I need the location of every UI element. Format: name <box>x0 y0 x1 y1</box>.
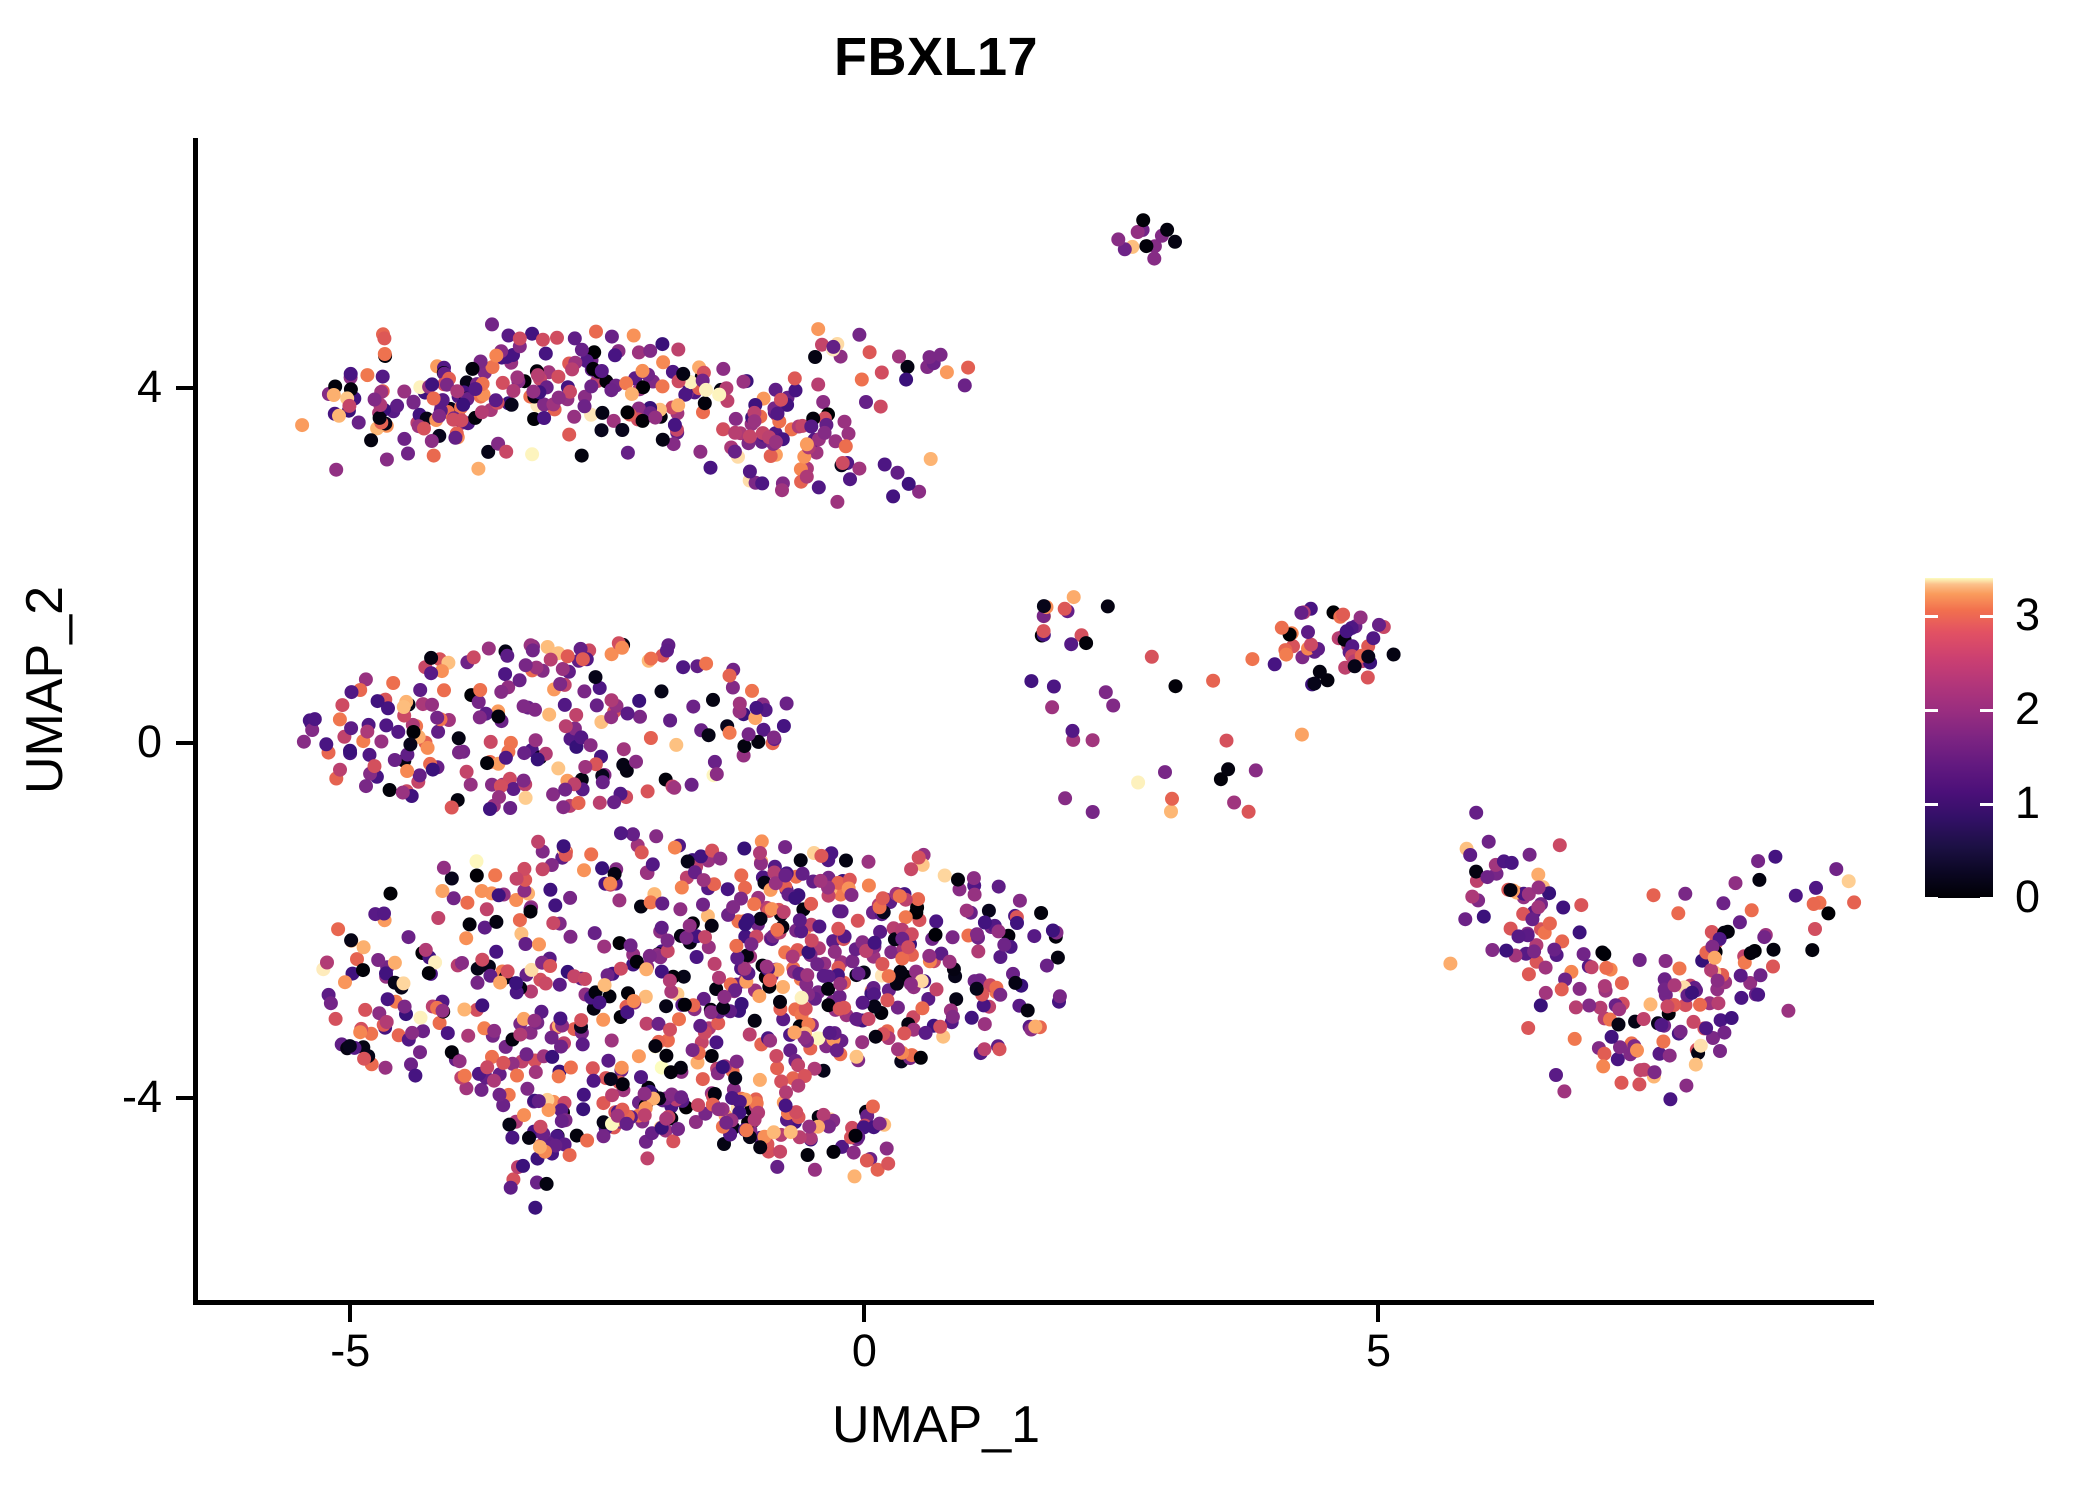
scatter-point <box>1557 1084 1571 1098</box>
scatter-point <box>1612 1018 1626 1032</box>
scatter-point <box>524 905 538 919</box>
scatter-point <box>1499 944 1513 958</box>
scatter-point <box>805 934 819 948</box>
scatter-point <box>520 1047 534 1061</box>
color-legend <box>1925 578 1993 898</box>
scatter-point <box>1569 1000 1583 1014</box>
scatter-point <box>390 399 404 413</box>
scatter-point <box>1808 922 1822 936</box>
scatter-point <box>546 787 560 801</box>
scatter-point <box>1463 848 1477 862</box>
scatter-point <box>576 1102 590 1116</box>
scatter-point <box>1615 976 1629 990</box>
scatter-point <box>729 412 743 426</box>
scatter-point <box>1734 969 1748 983</box>
scatter-point <box>615 423 629 437</box>
scatter-point <box>615 641 629 655</box>
scatter-point <box>978 1017 992 1031</box>
scatter-point <box>407 395 421 409</box>
scatter-point <box>1099 685 1113 699</box>
scatter-point <box>510 872 524 886</box>
scatter-point <box>567 410 581 424</box>
scatter-point <box>777 719 791 733</box>
scatter-point <box>344 933 358 947</box>
scatter-point <box>397 976 411 990</box>
scatter-point <box>743 465 757 479</box>
scatter-point <box>668 841 682 855</box>
scatter-point <box>876 891 890 905</box>
scatter-point <box>529 1065 543 1079</box>
scatter-point <box>616 1077 630 1091</box>
scatter-point <box>663 1023 677 1037</box>
scatter-point <box>584 847 598 861</box>
scatter-point <box>743 1028 757 1042</box>
scatter-point <box>516 1159 530 1173</box>
scatter-point <box>1612 1002 1626 1016</box>
scatter-point <box>396 786 410 800</box>
scatter-point <box>1066 724 1080 738</box>
scatter-point <box>460 896 474 910</box>
scatter-point <box>1534 998 1548 1012</box>
scatter-point <box>401 447 415 461</box>
scatter-point <box>648 411 662 425</box>
scatter-point <box>422 966 436 980</box>
scatter-point <box>539 977 553 991</box>
scatter-point <box>368 393 382 407</box>
scatter-point <box>659 999 673 1013</box>
scatter-point <box>587 1074 601 1088</box>
scatter-point <box>838 415 852 429</box>
scatter-point <box>716 422 730 436</box>
scatter-point <box>532 1094 546 1108</box>
scatter-point <box>519 937 533 951</box>
scatter-point <box>826 340 840 354</box>
scatter-point <box>607 795 621 809</box>
scatter-point <box>430 711 444 725</box>
scatter-point <box>357 940 371 954</box>
scatter-point <box>1512 929 1526 943</box>
scatter-point <box>1465 890 1479 904</box>
scatter-point <box>424 666 438 680</box>
scatter-point <box>640 1151 654 1165</box>
scatter-point <box>1605 1030 1619 1044</box>
scatter-point <box>745 684 759 698</box>
scatter-point <box>641 784 655 798</box>
scatter-point <box>540 1177 554 1191</box>
scatter-point <box>1754 968 1768 982</box>
scatter-point <box>1829 862 1843 876</box>
scatter-point <box>475 405 489 419</box>
scatter-point <box>319 737 333 751</box>
scatter-point <box>940 365 954 379</box>
scatter-point <box>699 383 713 397</box>
scatter-point <box>542 708 556 722</box>
scatter-point <box>1131 776 1145 790</box>
scatter-point <box>554 1040 568 1054</box>
scatter-point <box>904 977 918 991</box>
scatter-point <box>1656 1035 1670 1049</box>
scatter-point <box>1633 953 1647 967</box>
scatter-point <box>475 1083 489 1097</box>
scatter-point <box>453 1054 467 1068</box>
scatter-point <box>562 428 576 442</box>
scatter-point <box>804 897 818 911</box>
scatter-point <box>493 1088 507 1102</box>
scatter-point <box>833 1002 847 1016</box>
scatter-point <box>693 1019 707 1033</box>
scatter-point <box>441 1026 455 1040</box>
scatter-point <box>1340 624 1354 638</box>
scatter-point <box>1711 996 1725 1010</box>
scatter-point <box>1615 1076 1629 1090</box>
scatter-point <box>1111 232 1125 246</box>
scatter-point <box>1336 608 1350 622</box>
scatter-point <box>320 956 334 970</box>
scatter-point <box>484 735 498 749</box>
scatter-point <box>867 1000 881 1014</box>
scatter-point <box>728 426 742 440</box>
scatter-point <box>744 937 758 951</box>
scatter-point <box>737 375 751 389</box>
scatter-point <box>1789 889 1803 903</box>
scatter-point <box>1164 805 1178 819</box>
color-legend-tick-mark <box>1980 709 1993 712</box>
scatter-point <box>1021 1004 1035 1018</box>
scatter-point <box>1573 925 1587 939</box>
scatter-point <box>676 367 690 381</box>
scatter-point <box>563 1148 577 1162</box>
scatter-point <box>919 1026 933 1040</box>
scatter-point <box>1729 876 1743 890</box>
color-legend-tick-mark <box>1925 803 1938 806</box>
scatter-point <box>588 926 602 940</box>
scatter-point <box>559 719 573 733</box>
scatter-point <box>519 658 533 672</box>
scatter-point <box>324 996 338 1010</box>
scatter-point <box>605 330 619 344</box>
scatter-point <box>778 840 792 854</box>
scatter-point <box>638 1108 652 1122</box>
scatter-point <box>1028 1020 1042 1034</box>
scatter-point <box>482 642 496 656</box>
scatter-point <box>397 700 411 714</box>
scatter-point <box>1668 978 1682 992</box>
scatter-point <box>880 1142 894 1156</box>
scatter-point <box>1553 838 1567 852</box>
scatter-point <box>575 449 589 463</box>
scatter-point <box>424 651 438 665</box>
scatter-point <box>356 963 370 977</box>
scatter-points-layer <box>196 140 1872 1302</box>
scatter-point <box>1079 636 1093 650</box>
scatter-point <box>380 1015 394 1029</box>
scatter-point <box>629 755 643 769</box>
scatter-point <box>413 1045 427 1059</box>
scatter-point <box>633 710 647 724</box>
scatter-point <box>353 1025 367 1039</box>
scatter-point <box>992 880 1006 894</box>
scatter-point <box>716 362 730 376</box>
scatter-point <box>627 329 641 343</box>
scatter-point <box>1547 943 1561 957</box>
scatter-point <box>1767 943 1781 957</box>
scatter-point <box>786 950 800 964</box>
scatter-point <box>604 710 618 724</box>
scatter-point <box>753 1140 767 1154</box>
scatter-point <box>456 398 470 412</box>
scatter-point <box>667 781 681 795</box>
scatter-point <box>522 1131 536 1145</box>
scatter-point <box>1611 1052 1625 1066</box>
scatter-point <box>846 954 860 968</box>
scatter-point <box>1027 929 1041 943</box>
scatter-point <box>577 684 591 698</box>
scatter-point <box>993 950 1007 964</box>
scatter-point <box>1663 1092 1677 1106</box>
scatter-point <box>344 367 358 381</box>
scatter-point <box>627 994 641 1008</box>
scatter-point <box>536 862 550 876</box>
scatter-point <box>1573 982 1587 996</box>
scatter-point <box>946 930 960 944</box>
scatter-point <box>1168 235 1182 249</box>
scatter-point <box>391 725 405 739</box>
scatter-point <box>467 650 481 664</box>
page-title: FBXL17 <box>0 26 1872 88</box>
scatter-point <box>605 1034 619 1048</box>
color-legend-tick-mark <box>1925 615 1938 618</box>
scatter-point <box>904 862 918 876</box>
scatter-point <box>564 1061 578 1075</box>
scatter-point <box>419 943 433 957</box>
scatter-point <box>1734 991 1748 1005</box>
scatter-point <box>364 433 378 447</box>
scatter-point <box>1539 961 1553 975</box>
scatter-point <box>487 1074 501 1088</box>
scatter-point <box>804 420 818 434</box>
scatter-point <box>531 752 545 766</box>
scatter-point <box>1361 650 1375 664</box>
scatter-point <box>297 735 311 749</box>
scatter-point <box>1630 1043 1644 1057</box>
scatter-point <box>640 1017 654 1031</box>
scatter-point <box>552 391 566 405</box>
scatter-point <box>978 916 992 930</box>
scatter-point <box>643 949 657 963</box>
scatter-point <box>455 956 469 970</box>
scatter-point <box>776 980 790 994</box>
scatter-point <box>532 937 546 951</box>
scatter-point <box>510 1069 524 1083</box>
scatter-point <box>892 350 906 364</box>
scatter-point <box>578 399 592 413</box>
scatter-point <box>536 333 550 347</box>
scatter-point <box>597 940 611 954</box>
scatter-point <box>352 416 366 430</box>
scatter-point <box>852 328 866 342</box>
scatter-point <box>1064 637 1078 651</box>
scatter-point <box>679 931 693 945</box>
scatter-point <box>1757 930 1771 944</box>
scatter-point <box>1485 943 1499 957</box>
scatter-point <box>685 778 699 792</box>
scatter-point <box>660 644 674 658</box>
scatter-point <box>891 1042 905 1056</box>
scatter-point <box>487 1024 501 1038</box>
scatter-point <box>902 477 916 491</box>
scatter-point <box>666 1134 680 1148</box>
scatter-point <box>475 998 489 1012</box>
scatter-point <box>1304 638 1318 652</box>
scatter-point <box>427 392 441 406</box>
scatter-point <box>603 877 617 891</box>
scatter-point <box>1008 976 1022 990</box>
scatter-point <box>425 434 439 448</box>
scatter-point <box>1136 213 1150 227</box>
scatter-point <box>748 1014 762 1028</box>
scatter-point <box>850 1050 864 1064</box>
scatter-point <box>397 432 411 446</box>
scatter-point <box>852 462 866 476</box>
scatter-point <box>543 959 557 973</box>
scatter-point <box>1768 850 1782 864</box>
scatter-point <box>344 721 358 735</box>
scatter-point <box>432 409 446 423</box>
scatter-point <box>577 1088 591 1102</box>
scatter-point <box>504 1181 518 1195</box>
scatter-point <box>480 902 494 916</box>
scatter-point <box>1733 915 1747 929</box>
scatter-point <box>517 1108 531 1122</box>
scatter-point <box>604 383 618 397</box>
scatter-point <box>525 447 539 461</box>
scatter-point <box>380 453 394 467</box>
scatter-point <box>770 923 784 937</box>
scatter-point <box>513 1028 527 1042</box>
scatter-point <box>403 737 417 751</box>
scatter-point <box>778 869 792 883</box>
scatter-point <box>572 796 586 810</box>
scatter-point <box>726 900 740 914</box>
scatter-point <box>914 1051 928 1065</box>
scatter-point <box>592 996 606 1010</box>
scatter-point <box>818 426 832 440</box>
scatter-point <box>333 712 347 726</box>
scatter-point <box>378 347 392 361</box>
scatter-point <box>696 898 710 912</box>
scatter-point <box>702 728 716 742</box>
scatter-point <box>464 778 478 792</box>
scatter-point <box>967 871 981 885</box>
scatter-point <box>1648 1065 1662 1079</box>
scatter-point <box>656 379 670 393</box>
scatter-point <box>1678 887 1692 901</box>
scatter-point <box>733 697 747 711</box>
scatter-point <box>1568 1032 1582 1046</box>
scatter-point <box>821 982 835 996</box>
scatter-point <box>791 1079 805 1093</box>
scatter-point <box>1807 897 1821 911</box>
scatter-point <box>426 763 440 777</box>
scatter-point <box>868 936 882 950</box>
scatter-point <box>1632 1077 1646 1091</box>
scatter-point <box>625 387 639 401</box>
scatter-point <box>564 930 578 944</box>
scatter-point <box>473 683 487 697</box>
scatter-point <box>446 413 460 427</box>
scatter-point <box>933 1020 947 1034</box>
scatter-point <box>690 950 704 964</box>
scatter-point <box>1689 1058 1703 1072</box>
scatter-point <box>880 993 894 1007</box>
scatter-point <box>1101 599 1115 613</box>
scatter-point <box>553 978 567 992</box>
scatter-point <box>557 839 571 853</box>
scatter-point <box>425 377 439 391</box>
scatter-point <box>789 383 803 397</box>
scatter-point <box>373 411 387 425</box>
scatter-point <box>661 934 675 948</box>
scatter-point <box>866 1100 880 1114</box>
scatter-point <box>1221 762 1235 776</box>
scatter-point <box>499 751 513 765</box>
scatter-point <box>589 325 603 339</box>
x-tick-label: 5 <box>1318 1328 1438 1373</box>
scatter-point <box>800 968 814 982</box>
scatter-point <box>1301 625 1315 639</box>
scatter-point <box>526 643 540 657</box>
scatter-point <box>655 921 669 935</box>
scatter-point <box>929 928 943 942</box>
scatter-point <box>648 1039 662 1053</box>
scatter-point <box>663 714 677 728</box>
y-tick-label: 0 <box>137 719 162 764</box>
scatter-point <box>383 783 397 797</box>
scatter-point <box>1711 974 1725 988</box>
scatter-point <box>779 1085 793 1099</box>
scatter-point <box>836 456 850 470</box>
scatter-point <box>384 887 398 901</box>
scatter-point <box>1106 699 1120 713</box>
scatter-point <box>970 982 984 996</box>
scatter-point <box>528 1014 542 1028</box>
scatter-point <box>922 949 936 963</box>
scatter-point <box>1766 960 1780 974</box>
scatter-point <box>597 1129 611 1143</box>
scatter-point <box>626 827 640 841</box>
scatter-point <box>563 891 577 905</box>
scatter-point <box>1674 1025 1688 1039</box>
scatter-point <box>794 853 808 867</box>
scatter-point <box>437 861 451 875</box>
scatter-point <box>335 698 349 712</box>
scatter-point <box>466 362 480 376</box>
scatter-point <box>1781 1004 1795 1018</box>
scatter-point <box>417 422 431 436</box>
x-axis-line <box>193 1300 1874 1305</box>
chart-page: FBXL17 40-4 -505 UMAP_1 UMAP_2 3210 <box>0 0 2100 1500</box>
scatter-point <box>1086 805 1100 819</box>
scatter-point <box>1539 986 1553 1000</box>
scatter-point <box>1555 982 1569 996</box>
scatter-point <box>848 1169 862 1183</box>
scatter-point <box>644 652 658 666</box>
scatter-point <box>1206 674 1220 688</box>
scatter-point <box>1522 967 1536 981</box>
scatter-point <box>886 489 900 503</box>
scatter-point <box>915 1001 929 1015</box>
scatter-point <box>1752 873 1766 887</box>
